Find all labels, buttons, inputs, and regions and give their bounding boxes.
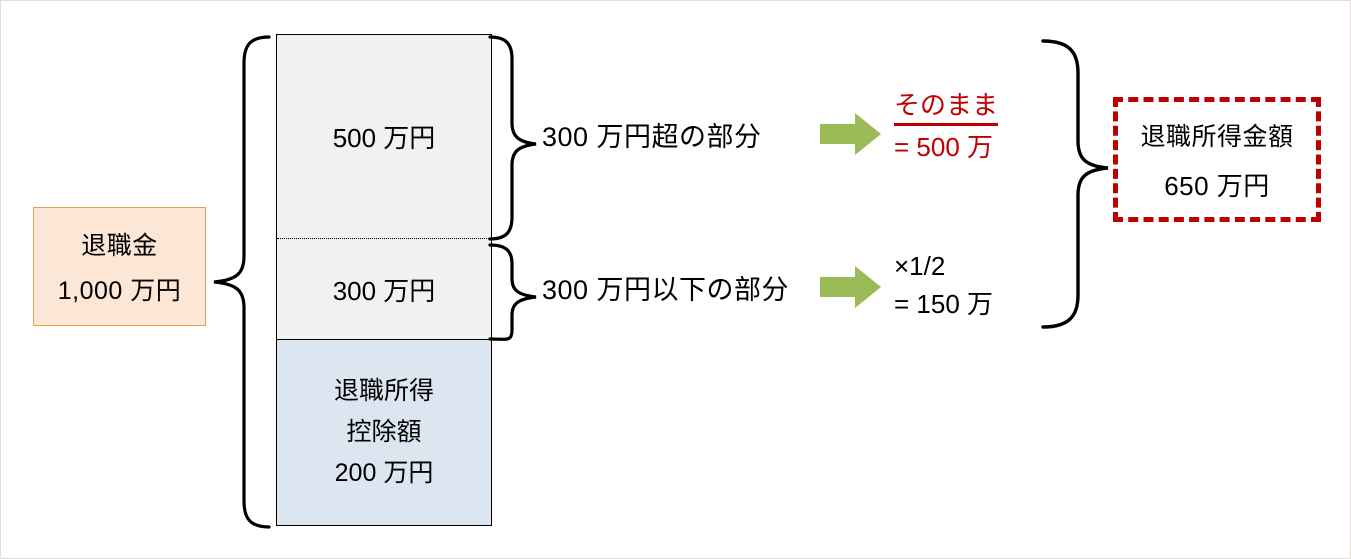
gross-amount-value: 1,000 万円 xyxy=(58,271,182,307)
row-operation-under-300: ×1/2 xyxy=(894,251,945,281)
row-label-under-300: 300 万円以下の部分 xyxy=(542,268,789,307)
bar-segment-under-300: 300 万円 xyxy=(277,239,491,340)
row-result-value-over-300: = 500 万 xyxy=(894,132,998,164)
final-result-label: 退職所得金額 xyxy=(1140,117,1293,153)
row-operation-over-300: そのまま xyxy=(894,90,998,126)
bar-segment-over-300-label: 500 万円 xyxy=(333,118,436,155)
stacked-amount-bar: 500 万円 300 万円 退職所得 控除額 200 万円 xyxy=(276,34,492,526)
left-brace-icon xyxy=(214,37,269,527)
final-result-amount: 650 万円 xyxy=(1164,166,1270,203)
gross-amount-box: 退職金 1,000 万円 xyxy=(33,207,206,326)
final-result-box: 退職所得金額 650 万円 xyxy=(1113,97,1321,222)
gross-amount-label: 退職金 xyxy=(81,226,158,262)
row-label-over-300: 300 万円超の部分 xyxy=(542,115,762,154)
bar-segment-under-300-label: 300 万円 xyxy=(333,271,436,308)
right-arrow-icon xyxy=(820,111,882,157)
right-brace-total-icon xyxy=(1043,41,1108,327)
right-brace-under-300-icon xyxy=(490,245,536,339)
deduction-amount: 200 万円 xyxy=(335,461,434,486)
deduction-label-line1: 退職所得 xyxy=(334,379,434,404)
diagram-canvas: 退職金 1,000 万円 500 万円 300 万円 退職所得 控除額 200 … xyxy=(0,0,1351,559)
right-arrow-icon xyxy=(820,264,882,310)
bar-segment-over-300: 500 万円 xyxy=(277,35,491,239)
row-result-value-under-300: = 150 万 xyxy=(894,289,993,321)
deduction-label-line2: 控除額 xyxy=(346,420,421,445)
bar-segment-deduction: 退職所得 控除額 200 万円 xyxy=(277,340,491,525)
row-result-over-300: そのまま = 500 万 xyxy=(894,90,998,163)
right-brace-over-300-icon xyxy=(490,37,536,239)
row-result-under-300: ×1/2 = 150 万 xyxy=(894,251,993,320)
